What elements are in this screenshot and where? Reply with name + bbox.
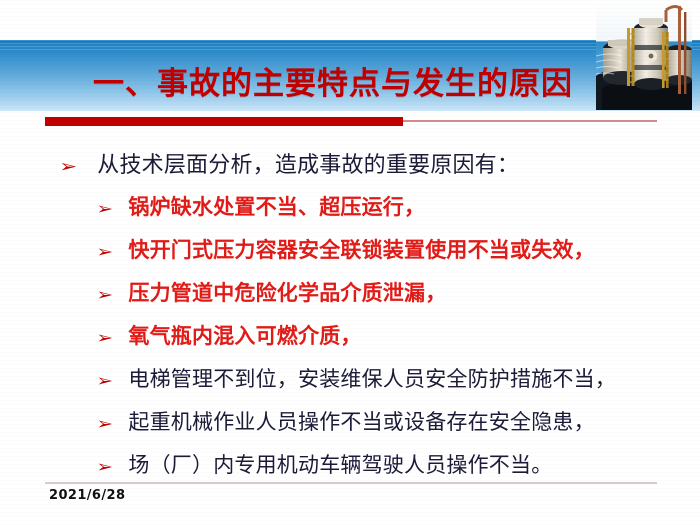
- title-underline-rule: [0, 117, 700, 129]
- list-item: ➢ 锅炉缺水处置不当、超压运行，: [0, 186, 700, 229]
- list-item: ➢ 起重机械作业人员操作不当或设备存在安全隐患，: [0, 401, 700, 444]
- list-item-label: 快开门式压力容器安全联锁装置使用不当或失效，: [128, 229, 594, 272]
- bullet-list: ➢ 从技术层面分析，造成事故的重要原因有： ➢ 锅炉缺水处置不当、超压运行， ➢…: [0, 143, 700, 487]
- list-item-label: 锅炉缺水处置不当、超压运行，: [128, 186, 425, 229]
- arrow-bullet-icon: ➢: [96, 402, 113, 445]
- list-item: ➢ 氧气瓶内混入可燃介质，: [0, 315, 700, 358]
- list-item: ➢ 快开门式压力容器安全联锁装置使用不当或失效，: [0, 229, 700, 272]
- list-item-label: 电梯管理不到位，安装维保人员安全防护措施不当，: [128, 358, 616, 401]
- arrow-bullet-icon: ➢: [96, 316, 113, 359]
- list-item: ➢ 场（厂）内专用机动车辆驾驶人员操作不当。: [0, 444, 700, 487]
- list-item-label: 压力管道中危险化学品介质泄漏，: [128, 272, 446, 315]
- rule-thick-segment: [45, 117, 403, 126]
- arrow-bullet-icon: ➢: [59, 146, 77, 189]
- arrow-bullet-icon: ➢: [96, 230, 113, 273]
- list-item-label: 氧气瓶内混入可燃介质，: [128, 315, 361, 358]
- arrow-bullet-icon: ➢: [96, 445, 113, 488]
- industrial-chemical-plant-photo: [596, 2, 692, 110]
- list-item: ➢ 从技术层面分析，造成事故的重要原因有：: [0, 143, 700, 186]
- presentation-slide: 一、事故的主要特点与发生的原因: [0, 0, 700, 525]
- list-item-label: 场（厂）内专用机动车辆驾驶人员操作不当。: [128, 444, 552, 487]
- arrow-bullet-icon: ➢: [96, 273, 113, 316]
- list-item-label: 从技术层面分析，造成事故的重要原因有：: [97, 143, 519, 186]
- page-title: 一、事故的主要特点与发生的原因: [93, 64, 573, 104]
- list-item-label: 起重机械作业人员操作不当或设备存在安全隐患，: [128, 401, 594, 444]
- list-item: ➢ 电梯管理不到位，安装维保人员安全防护措施不当，: [0, 358, 700, 401]
- footer-date: 2021/6/28: [49, 488, 125, 503]
- arrow-bullet-icon: ➢: [96, 359, 113, 402]
- arrow-bullet-icon: ➢: [96, 187, 113, 230]
- list-item: ➢ 压力管道中危险化学品介质泄漏，: [0, 272, 700, 315]
- rule-thin-segment: [403, 120, 657, 122]
